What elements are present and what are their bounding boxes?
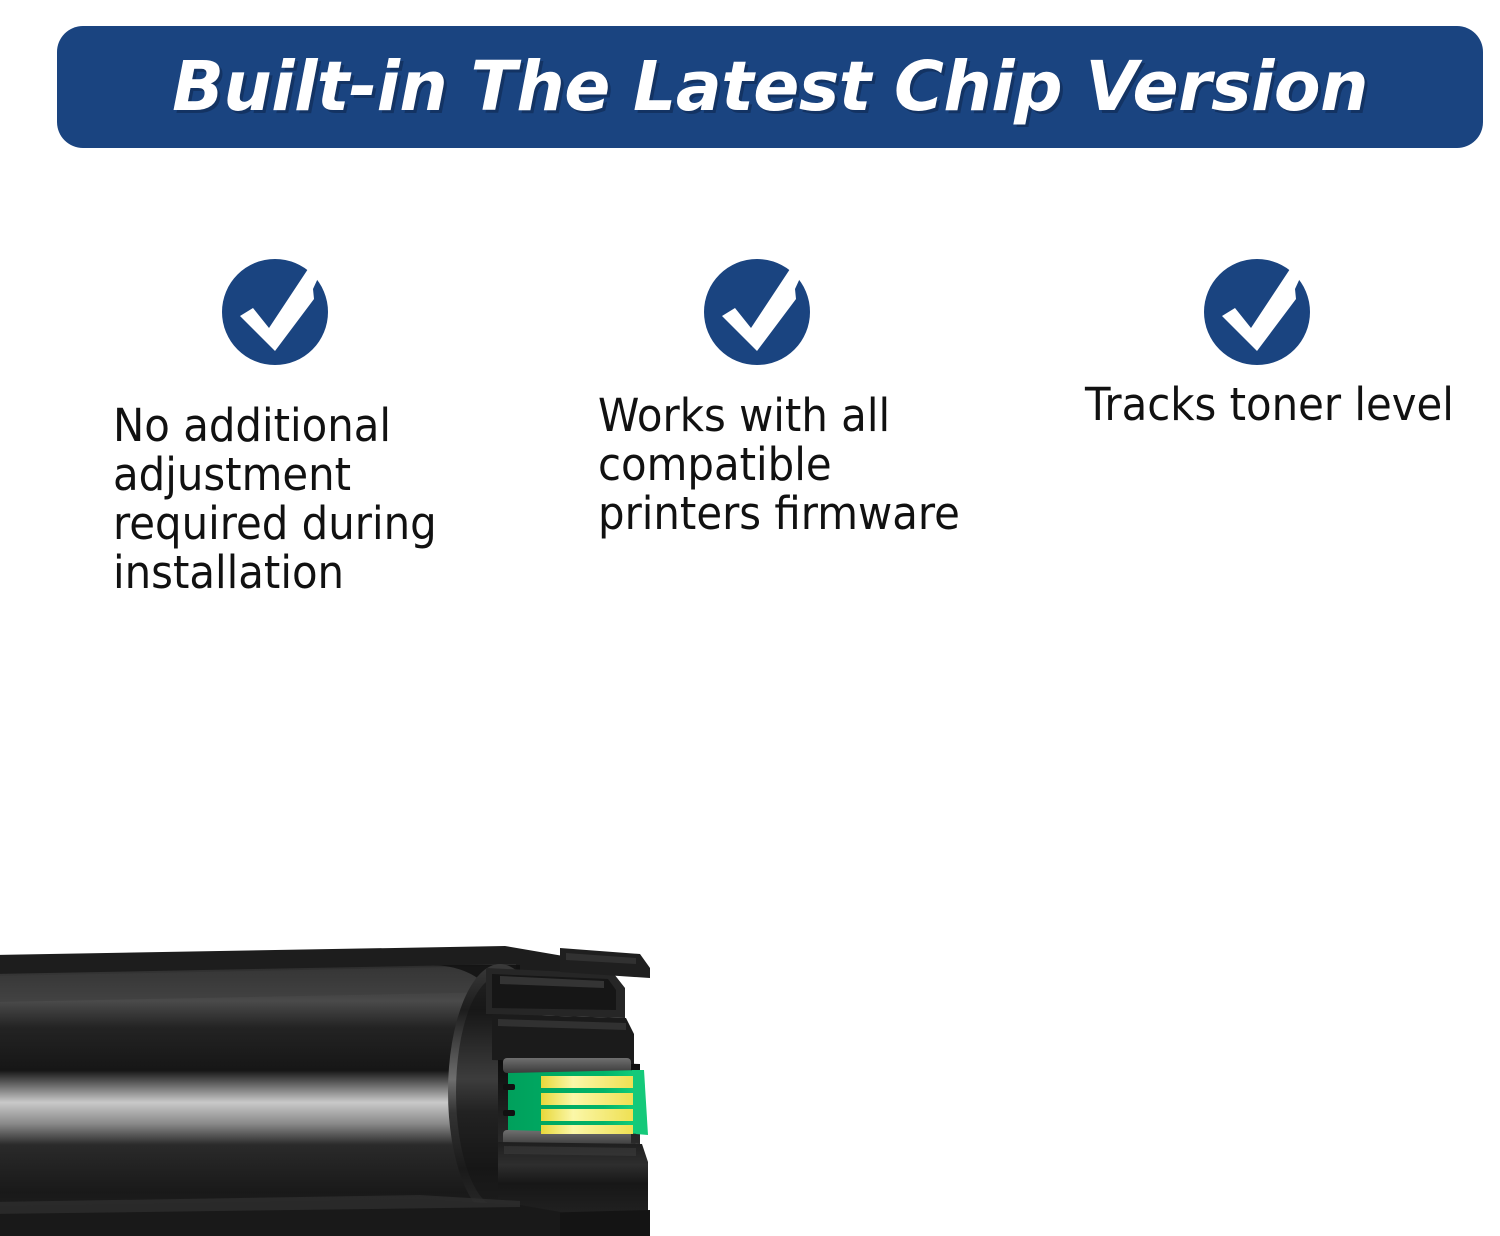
toner-cartridge-photo [0,918,700,1236]
page-title: Built-in The Latest Chip Version [172,53,1368,122]
feature-label-2: Works with all compatible printers firmw… [598,391,1017,538]
check-circle-icon [1202,255,1312,365]
feature-label-3: Tracks toner level [1085,380,1485,429]
check-circle-icon [220,255,330,365]
feature-label-1: No additional adjustment required during… [113,401,504,597]
feature-item-3: Tracks toner level [1085,255,1500,429]
check-circle-icon [702,255,812,365]
headline-banner: Built-in The Latest Chip Version [57,26,1483,148]
promo-infographic-page: Built-in The Latest Chip Version No addi… [0,0,1500,1236]
feature-item-1: No additional adjustment required during… [113,255,533,597]
feature-list: No additional adjustment required during… [0,255,1500,675]
feature-item-2: Works with all compatible printers firmw… [598,255,1048,538]
